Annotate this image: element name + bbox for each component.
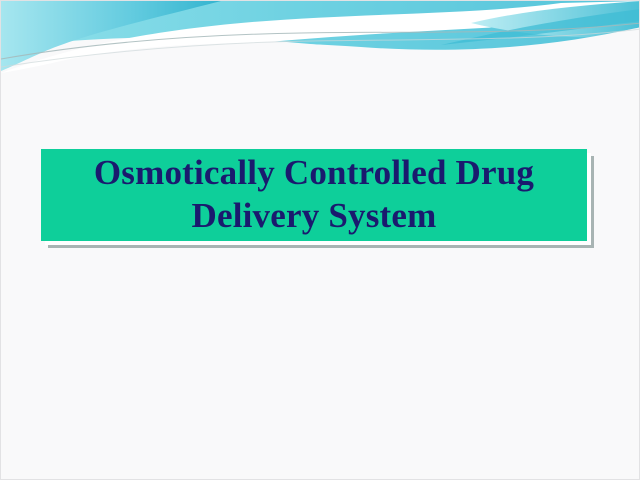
wave-layer-white-sweep	[1, 1, 640, 73]
wave-layer-left	[1, 1, 221, 71]
slide-title-line-2: Delivery System	[47, 195, 581, 238]
wave-layer-right-ribbon	[471, 1, 640, 37]
wave-layer-bottom-fill	[1, 27, 640, 73]
slide-title: Osmotically Controlled Drug Delivery Sys…	[41, 152, 587, 237]
wave-hairline-secondary	[1, 29, 640, 67]
slide-title-line-1: Osmotically Controlled Drug	[47, 152, 581, 195]
slide-body-area	[1, 251, 640, 480]
wave-hairline	[1, 23, 640, 59]
wave-layer-right-arc	[441, 9, 640, 45]
title-box[interactable]: Osmotically Controlled Drug Delivery Sys…	[41, 149, 587, 241]
wave-layer-base	[1, 1, 640, 55]
title-block: Osmotically Controlled Drug Delivery Sys…	[41, 149, 587, 241]
wave-banner-decoration	[1, 1, 640, 73]
presentation-slide: Osmotically Controlled Drug Delivery Sys…	[0, 0, 640, 480]
